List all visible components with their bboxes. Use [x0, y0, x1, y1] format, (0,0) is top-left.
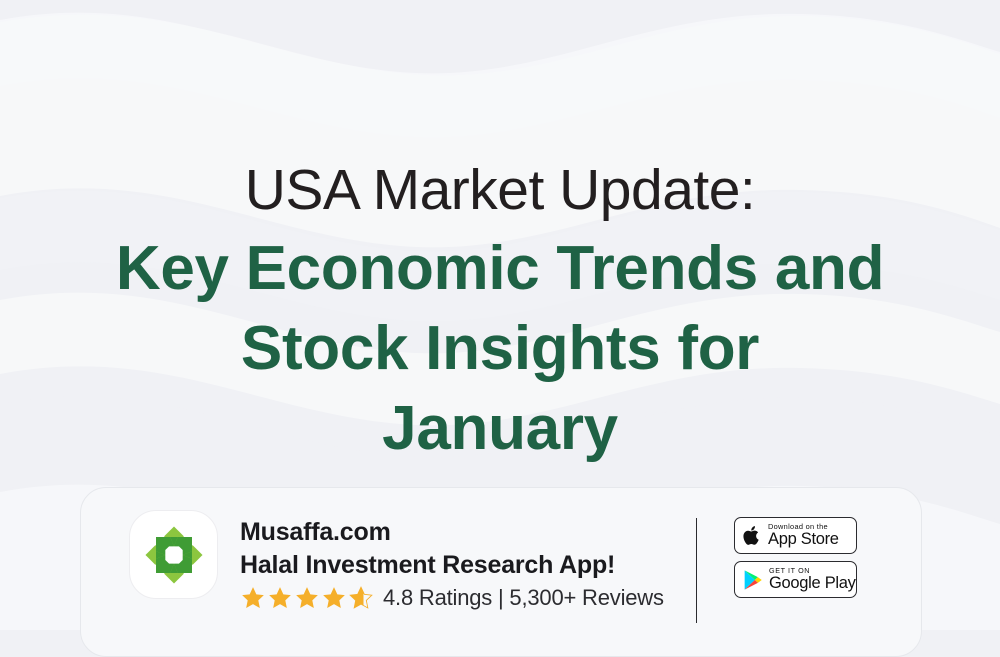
star-icon-5-half	[348, 585, 374, 611]
star-rating	[240, 585, 374, 611]
card-divider	[696, 518, 697, 623]
star-icon-3	[294, 585, 320, 611]
app-store-badge[interactable]: Download on the App Store	[734, 517, 857, 554]
rating-row: 4.8 Ratings | 5,300+ Reviews	[240, 585, 670, 611]
app-tagline: Halal Investment Research App!	[240, 549, 670, 582]
musaffa-rosette-logo-icon	[143, 524, 205, 586]
app-info-block: Musaffa.com Halal Investment Research Ap…	[240, 510, 670, 611]
app-promo-card: Musaffa.com Halal Investment Research Ap…	[80, 487, 922, 657]
page-title-line-1: USA Market Update:	[0, 162, 1000, 229]
app-icon-tile	[129, 510, 218, 599]
page-title-line-2: Key Economic Trends and	[0, 229, 1000, 309]
google-play-badge-big-text: Google Play	[769, 575, 856, 592]
rating-text: 4.8 Ratings | 5,300+ Reviews	[383, 585, 664, 611]
page-title-line-4: January	[0, 389, 1000, 469]
star-icon-2	[267, 585, 293, 611]
apple-icon	[743, 524, 762, 547]
store-badges: Download on the App Store GET IT ON Goog…	[734, 510, 857, 598]
star-icon-4	[321, 585, 347, 611]
google-play-badge[interactable]: GET IT ON Google Play	[734, 561, 857, 598]
app-store-badge-big-text: App Store	[768, 531, 839, 548]
google-play-icon	[743, 569, 763, 591]
headline-block: USA Market Update: Key Economic Trends a…	[0, 162, 1000, 469]
app-name: Musaffa.com	[240, 516, 670, 549]
star-icon-1	[240, 585, 266, 611]
page-title-line-3: Stock Insights for	[0, 309, 1000, 389]
